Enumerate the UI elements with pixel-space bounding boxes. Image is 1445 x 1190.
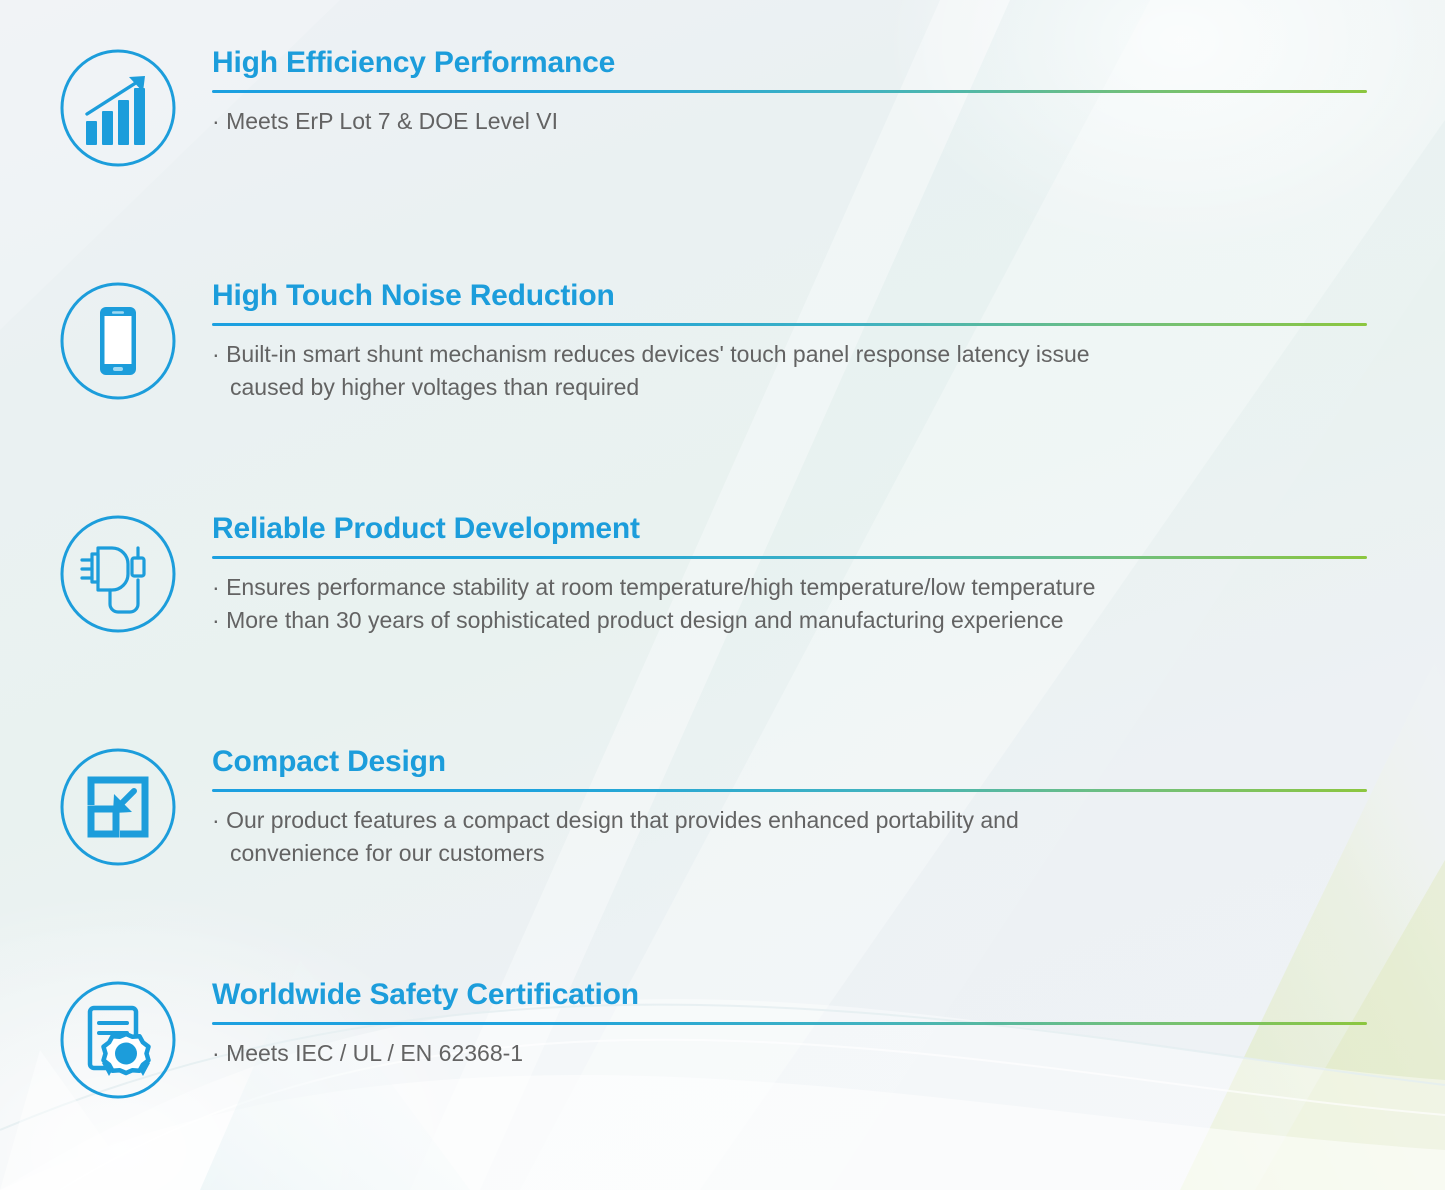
feature-bullets: · Built-in smart shunt mechanism reduces… [212,338,1367,403]
certificate-award-icon [58,980,178,1100]
feature-body: Compact Design · Our product features a … [212,747,1367,869]
bullet-item-continuation: convenience for our customers [212,837,1367,870]
feature-icon-wrap [55,514,180,634]
feature-body: High Touch Noise Reduction · Built-in sm… [212,281,1367,403]
feature-divider [212,1022,1367,1025]
feature-bullets: · Our product features a compact design … [212,804,1367,869]
feature-bullets: · Meets IEC / UL / EN 62368-1 [212,1037,1367,1070]
bullet-text: caused by higher voltages than required [230,374,639,400]
feature-bullets: · Meets ErP Lot 7 & DOE Level VI [212,105,1367,138]
feature-title: High Touch Noise Reduction [212,281,1367,311]
compact-resize-icon [58,747,178,867]
bullet-text: Ensures performance stability at room te… [226,574,1095,600]
bullet-item: · Meets IEC / UL / EN 62368-1 [212,1037,1367,1070]
feature-divider [212,789,1367,792]
feature-title: Reliable Product Development [212,514,1367,544]
feature-icon-wrap [55,48,180,168]
feature-body: Worldwide Safety Certification · Meets I… [212,980,1367,1070]
feature-divider [212,90,1367,93]
bullet-text: More than 30 years of sophisticated prod… [226,607,1063,633]
bullet-marker: · [212,108,220,134]
bullet-item: · Meets ErP Lot 7 & DOE Level VI [212,105,1367,138]
bullet-marker: · [212,1040,220,1066]
bar-chart-growth-icon [58,48,178,168]
bullet-item-continuation: caused by higher voltages than required [212,371,1367,404]
bullet-marker: · [212,607,220,633]
bullet-item: · Our product features a compact design … [212,804,1367,837]
power-adapter-icon [58,514,178,634]
bullet-text: convenience for our customers [230,840,545,866]
feature-title: Compact Design [212,747,1367,777]
feature-icon-wrap [55,281,180,401]
bullet-marker: · [212,807,220,833]
bullet-text: Our product features a compact design th… [226,807,1019,833]
feature-divider [212,323,1367,326]
bullet-item: · More than 30 years of sophisticated pr… [212,604,1367,637]
feature-title: Worldwide Safety Certification [212,980,1367,1010]
bullet-marker: · [212,574,220,600]
smartphone-icon [58,281,178,401]
feature-icon-wrap [55,980,180,1100]
feature-body: Reliable Product Development · Ensures p… [212,514,1367,636]
bullet-marker: · [212,341,220,367]
bullet-text: Meets IEC / UL / EN 62368-1 [226,1040,523,1066]
bullet-text: Built-in smart shunt mechanism reduces d… [226,341,1090,367]
feature-bullets: · Ensures performance stability at room … [212,571,1367,636]
bullet-text: Meets ErP Lot 7 & DOE Level VI [226,108,558,134]
feature-divider [212,556,1367,559]
feature-title: High Efficiency Performance [212,48,1367,78]
bullet-item: · Ensures performance stability at room … [212,571,1367,604]
feature-body: High Efficiency Performance · Meets ErP … [212,48,1367,138]
bullet-item: · Built-in smart shunt mechanism reduces… [212,338,1367,371]
feature-icon-wrap [55,747,180,867]
feature-highlights-page: High Efficiency Performance · Meets ErP … [0,0,1445,1190]
